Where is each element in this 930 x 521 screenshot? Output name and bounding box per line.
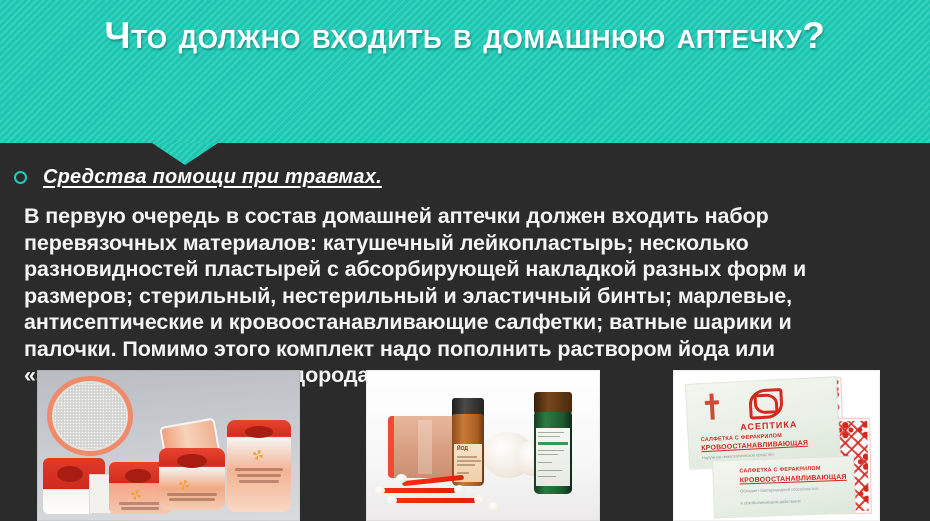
header-notch-triangle bbox=[152, 143, 218, 165]
presentation-slide: Что должно входить в домашнюю аптечку? С… bbox=[0, 0, 930, 521]
page-title: Что должно входить в домашнюю аптечку? bbox=[60, 12, 870, 59]
bullet-item-label: Средства помощи при травмах. bbox=[43, 166, 382, 189]
photo-iodine-and-brilliant-green: ЙОД bbox=[366, 370, 600, 521]
body-paragraph: В первую очередь в состав домашней аптеч… bbox=[24, 203, 844, 389]
photo-strip: ЙОД bbox=[0, 370, 930, 521]
bullet-item: Средства помощи при травмах. bbox=[14, 166, 382, 189]
photo-aseptika-hemostatic-napkins: АСЕПТИКА САЛФЕТКА С ФЕРАКРИЛОМ КРОВООСТА… bbox=[673, 370, 880, 521]
hollow-circle-icon bbox=[14, 171, 27, 184]
photo-adhesive-tape-rolls bbox=[37, 370, 300, 521]
